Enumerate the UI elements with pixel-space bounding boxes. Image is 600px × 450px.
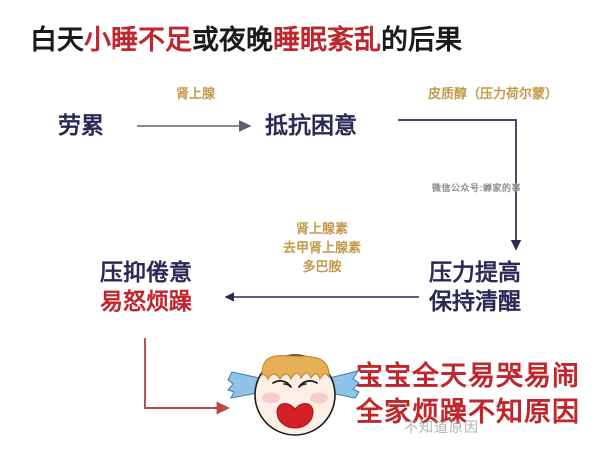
label-cortisol-text: 皮质醇（压力荷尔蒙）: [428, 86, 558, 101]
node-fatigue: 劳累: [58, 111, 104, 140]
node-resist-sleepiness: 抵抗困意: [265, 111, 357, 140]
title-seg-1: 白天: [30, 25, 84, 55]
baby-right-cheek: [310, 393, 328, 404]
title-seg-2: 小睡不足: [84, 25, 192, 55]
title-seg-5: 的后果: [381, 25, 462, 55]
node-stress-up: 压力提高 保持清醒: [429, 258, 521, 316]
title-seg-3: 或夜晚: [192, 25, 273, 55]
baby-left-cheek: [262, 393, 280, 404]
watermark-bottom: 不知道原因: [404, 417, 479, 437]
node-suppress-line2: 易怒烦躁: [100, 287, 192, 316]
label-dopamine: 多巴胺: [283, 257, 361, 276]
label-adrenal-gland: 肾上腺: [176, 84, 215, 103]
label-adrenal-gland-text: 肾上腺: [176, 86, 215, 101]
title-seg-4: 睡眠紊乱: [273, 25, 381, 55]
watermark-center-text: 微信公众号:蝉家的事: [432, 183, 521, 193]
label-noradrenaline: 去甲肾上腺素: [283, 238, 361, 257]
arrow-suppress-to-outcome: [145, 338, 228, 408]
node-suppress-line1: 压抑倦意: [100, 258, 192, 287]
watermark-bottom-text: 不知道原因: [404, 419, 479, 435]
label-adrenaline: 肾上腺素: [283, 219, 361, 238]
label-cortisol: 皮质醇（压力荷尔蒙）: [428, 84, 558, 103]
outcome-line1: 宝宝全天易哭易闹: [356, 358, 580, 394]
node-resist-sleepiness-label: 抵抗困意: [265, 112, 357, 138]
node-stress-up-line1: 压力提高: [429, 258, 521, 287]
node-suppress-tiredness: 压抑倦意 易怒烦躁: [100, 258, 192, 316]
watermark-center: 微信公众号:蝉家的事: [432, 181, 521, 194]
label-catecholamines: 肾上腺素 去甲肾上腺素 多巴胺: [283, 219, 361, 276]
node-stress-up-line2: 保持清醒: [429, 287, 521, 316]
page-title: 白天小睡不足或夜晚睡眠紊乱的后果: [30, 18, 462, 57]
crying-baby-illustration: [228, 355, 359, 435]
node-fatigue-label: 劳累: [58, 112, 104, 138]
